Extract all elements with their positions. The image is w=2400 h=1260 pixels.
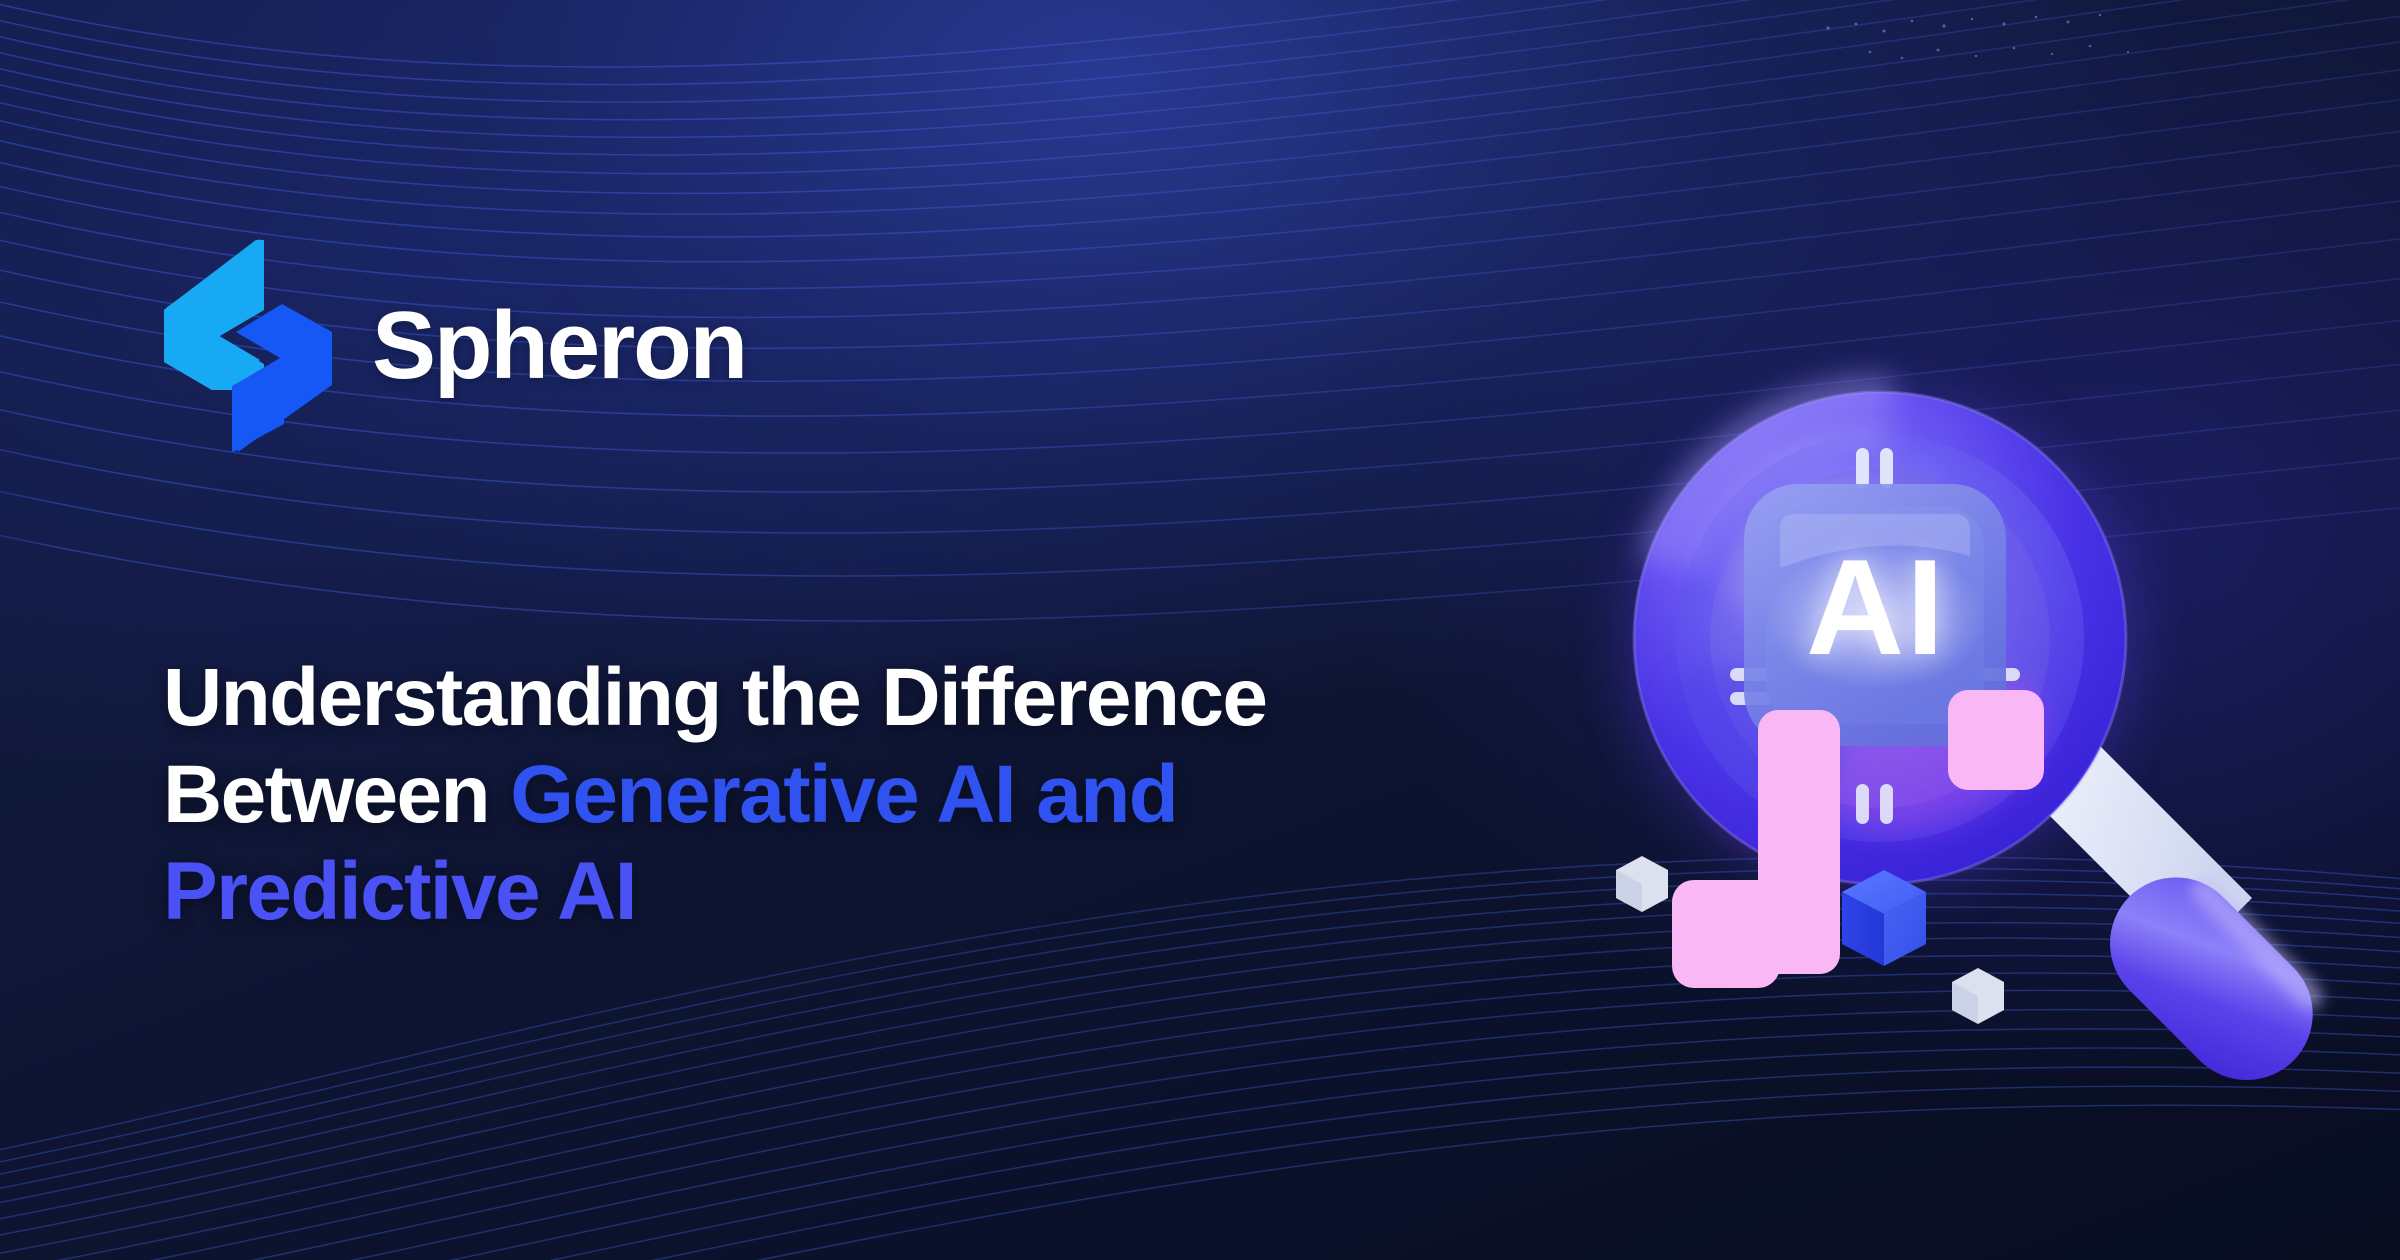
cube-pale-left — [1616, 856, 1668, 912]
pink-square-large — [1672, 880, 1780, 988]
chip-pin-bottom-left — [1856, 784, 1869, 824]
headline-line-2-white: Between — [163, 749, 510, 840]
page-title: Understanding the Difference Between Gen… — [163, 650, 1583, 940]
spheron-s-logo-icon — [160, 238, 338, 453]
headline-line-2-accent: Generative AI and — [510, 749, 1177, 840]
cube-pale-right — [1952, 968, 2004, 1024]
banner-hero: Spheron Understanding the Difference Bet… — [0, 0, 2400, 1260]
sparkle-dots — [1826, 14, 2129, 59]
chip-pin-top-right — [1880, 448, 1893, 488]
chip-ai-label: AI — [1806, 531, 1946, 683]
headline-line-1: Understanding the Difference — [163, 652, 1266, 743]
pink-square-mid-right — [1948, 690, 2044, 790]
ai-magnifying-glass-illustration: AI — [1580, 380, 2400, 1100]
chip-pin-bottom-right — [1880, 784, 1893, 824]
brand-logo[interactable]: Spheron — [160, 238, 746, 453]
chip-pin-top-left — [1856, 448, 1869, 488]
headline-line-3-accent: Predictive AI — [163, 846, 636, 937]
brand-wordmark: Spheron — [372, 298, 746, 394]
